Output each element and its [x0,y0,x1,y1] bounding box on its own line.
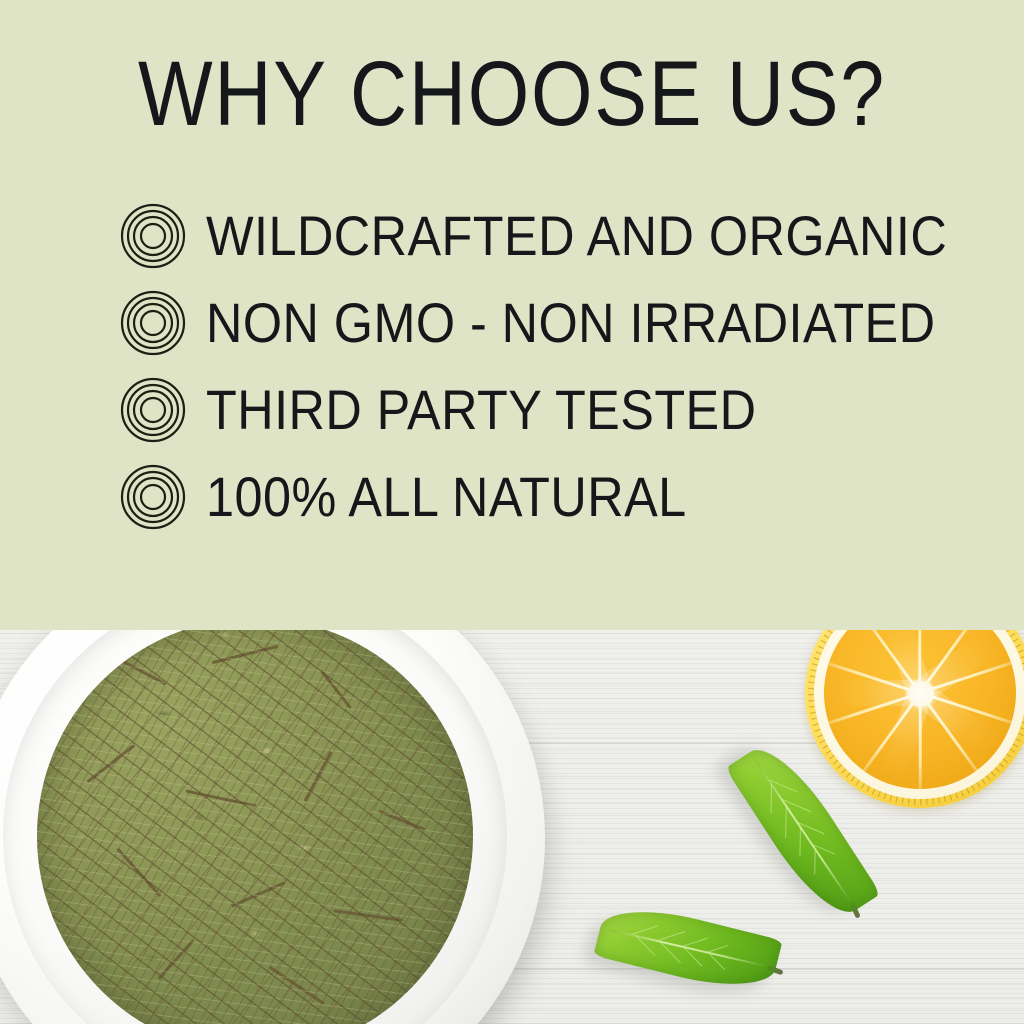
list-item-label: 100% ALL NATURAL [206,469,687,525]
list-item: THIRD PARTY TESTED [120,366,1020,453]
list-item: WILDCRAFTED AND ORGANIC [120,192,1020,279]
list-item-label: THIRD PARTY TESTED [206,382,756,438]
concentric-circles-icon [120,464,186,530]
list-item: 100% ALL NATURAL [120,453,1020,540]
concentric-circles-icon [120,377,186,443]
concentric-circles-icon [120,290,186,356]
concentric-circles-icon [120,203,186,269]
lemon-center [908,681,934,707]
benefits-list: WILDCRAFTED AND ORGANIC NON GMO - NON IR… [120,192,1020,540]
list-item-label: WILDCRAFTED AND ORGANIC [206,208,947,264]
headline-panel: WHY CHOOSE US? WILDCRAFTED AND ORGANIC [0,0,1024,630]
page-title: WHY CHOOSE US? [72,48,953,140]
dried-herb-leaves [37,618,473,1024]
product-benefits-graphic: WHY CHOOSE US? WILDCRAFTED AND ORGANIC [0,0,1024,1024]
list-item-label: NON GMO - NON IRRADIATED [206,295,935,351]
list-item: NON GMO - NON IRRADIATED [120,279,1020,366]
